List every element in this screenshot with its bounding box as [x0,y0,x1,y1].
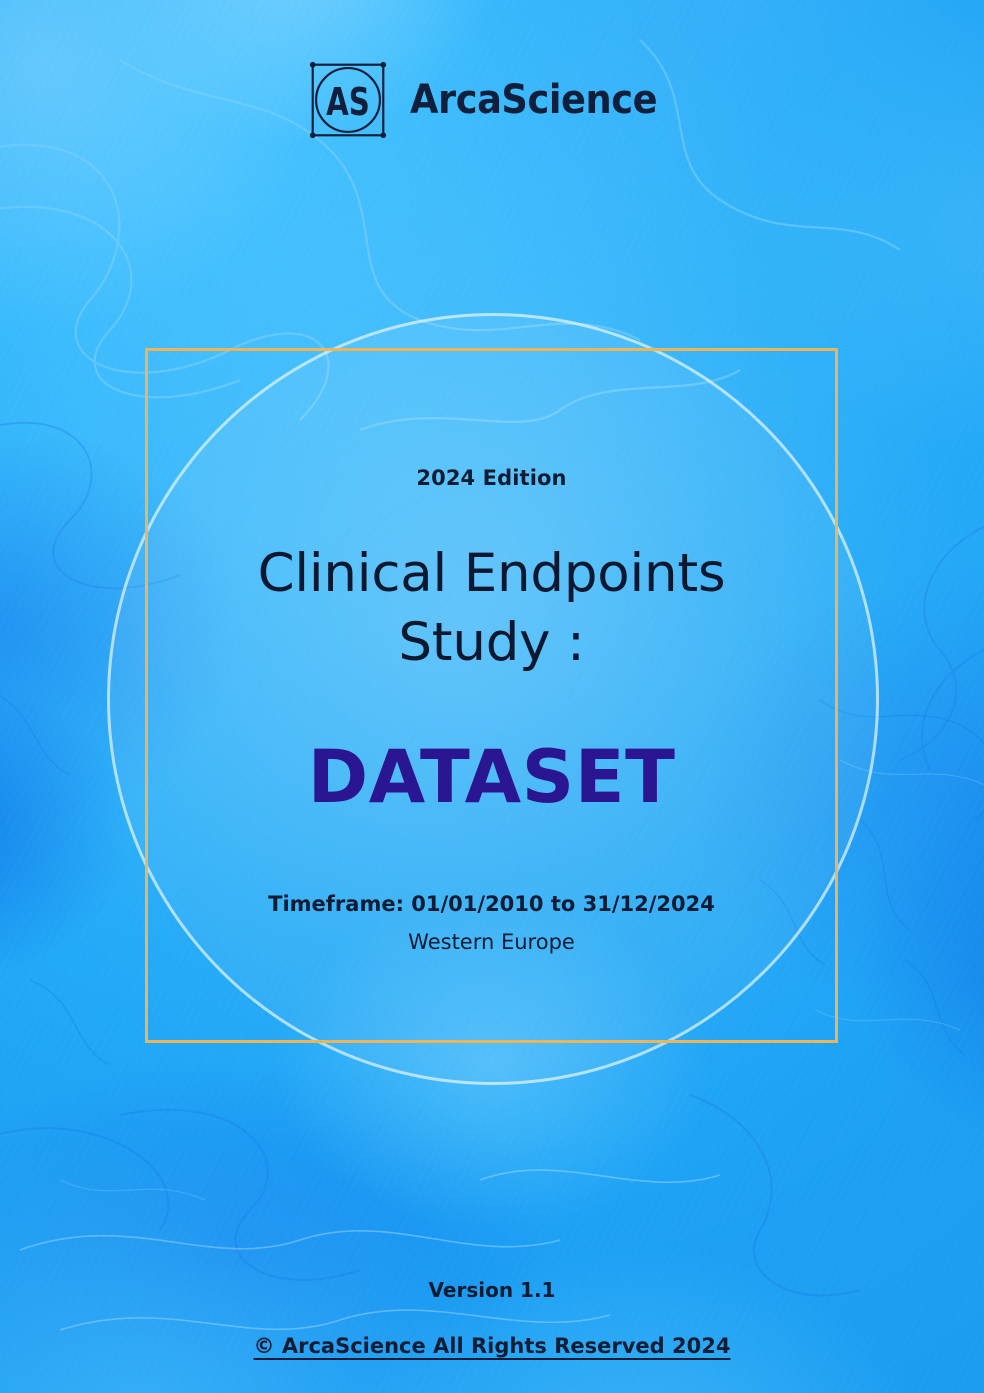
cover-page: AS ArcaScience 2024 Edition Clinical End… [0,0,984,1393]
version-label: Version 1.1 [0,1278,984,1302]
brand-header: AS ArcaScience [0,58,984,142]
subject-heading: DATASET [308,740,676,817]
edition-label: 2024 Edition [416,466,566,490]
as-monogram-square-circle-icon: AS [306,58,390,142]
region-label: Western Europe [408,930,575,954]
title-line-2: Study : [258,609,726,678]
copyright-notice: © ArcaScience All Rights Reserved 2024 [254,1334,731,1358]
timeframe-label: Timeframe: 01/01/2010 to 31/12/2024 [268,892,715,916]
brand-wordmark: ArcaScience [410,77,657,123]
title-line-1: Clinical Endpoints [258,540,726,609]
logo-monogram-text: AS [326,80,370,125]
page-title: Clinical Endpoints Study : [258,540,726,678]
cover-content-block: 2024 Edition Clinical Endpoints Study : … [145,348,838,1043]
cover-footer: Version 1.1 © ArcaScience All Rights Res… [0,1278,984,1358]
